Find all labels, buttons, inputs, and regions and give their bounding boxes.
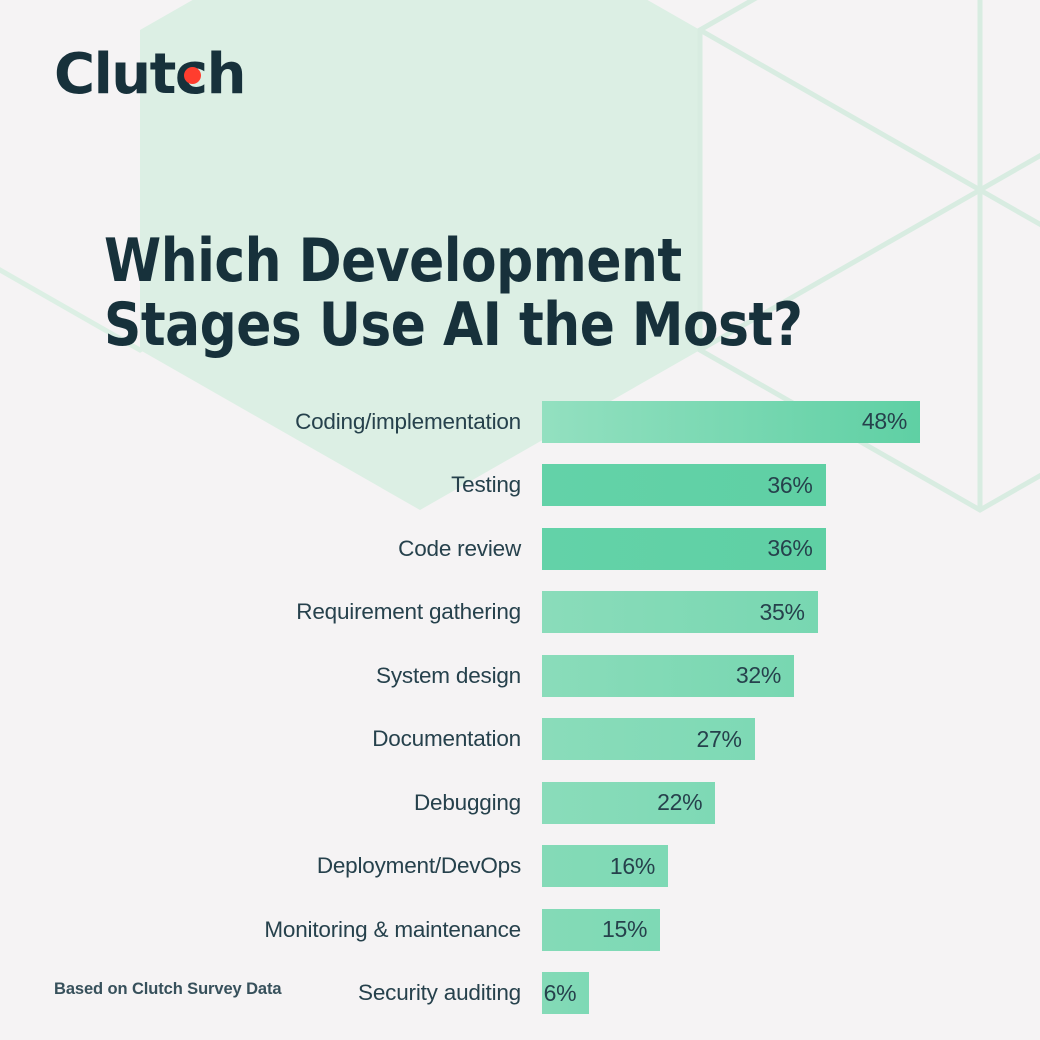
- infographic-canvas: Clutch Which Development Stages Use AI t…: [0, 0, 1040, 1040]
- bar-fill: 15%: [542, 909, 660, 951]
- bar-fill: 16%: [542, 845, 668, 887]
- bar-fill: 6%: [542, 972, 589, 1014]
- bar-fill: 22%: [542, 782, 715, 824]
- bar-row: Code review36%: [0, 517, 1040, 581]
- logo-dot-icon: [184, 67, 201, 84]
- bar-track: 35%: [542, 591, 1040, 633]
- bar-value: 15%: [602, 916, 647, 943]
- bar-value: 16%: [610, 853, 655, 880]
- page-title-line-1: Which Development: [104, 230, 891, 294]
- bar-fill: 36%: [542, 528, 826, 570]
- bar-fill: 27%: [542, 718, 755, 760]
- bar-row: Documentation27%: [0, 708, 1040, 772]
- bar-track: 48%: [542, 401, 1040, 443]
- bar-label: System design: [0, 663, 542, 689]
- page-title: Which Development Stages Use AI the Most…: [104, 230, 924, 357]
- bar-row: Debugging22%: [0, 771, 1040, 835]
- logo-wordmark: Clutch: [54, 47, 245, 103]
- bar-value: 22%: [657, 789, 702, 816]
- clutch-logo: Clutch: [54, 44, 245, 106]
- bar-label: Monitoring & maintenance: [0, 917, 542, 943]
- bar-label: Coding/implementation: [0, 409, 542, 435]
- bar-fill: 36%: [542, 464, 826, 506]
- bar-row: System design32%: [0, 644, 1040, 708]
- bar-value: 36%: [767, 472, 812, 499]
- bar-track: 32%: [542, 655, 1040, 697]
- bar-chart: Coding/implementation48%Testing36%Code r…: [0, 390, 1040, 1025]
- bar-fill: 48%: [542, 401, 920, 443]
- bar-value: 35%: [759, 599, 804, 626]
- bar-row: Requirement gathering35%: [0, 581, 1040, 645]
- bar-fill: 32%: [542, 655, 794, 697]
- bar-value: 6%: [544, 980, 577, 1007]
- bar-value: 36%: [767, 535, 812, 562]
- bar-label: Requirement gathering: [0, 599, 542, 625]
- bar-fill: 35%: [542, 591, 818, 633]
- bar-row: Coding/implementation48%: [0, 390, 1040, 454]
- bar-label: Code review: [0, 536, 542, 562]
- bar-track: 16%: [542, 845, 1040, 887]
- bar-track: 15%: [542, 909, 1040, 951]
- bar-track: 6%: [542, 972, 1040, 1014]
- bar-track: 36%: [542, 528, 1040, 570]
- bar-label: Debugging: [0, 790, 542, 816]
- bar-value: 32%: [736, 662, 781, 689]
- bar-track: 27%: [542, 718, 1040, 760]
- bar-label: Documentation: [0, 726, 542, 752]
- bar-track: 36%: [542, 464, 1040, 506]
- source-note: Based on Clutch Survey Data: [54, 980, 281, 999]
- bar-row: Deployment/DevOps16%: [0, 835, 1040, 899]
- bar-label: Testing: [0, 472, 542, 498]
- bar-row: Testing36%: [0, 454, 1040, 518]
- bar-label: Deployment/DevOps: [0, 853, 542, 879]
- bar-value: 27%: [696, 726, 741, 753]
- bar-track: 22%: [542, 782, 1040, 824]
- bar-value: 48%: [862, 408, 907, 435]
- page-title-line-2: Stages Use AI the Most?: [104, 294, 891, 358]
- bar-row: Monitoring & maintenance15%: [0, 898, 1040, 962]
